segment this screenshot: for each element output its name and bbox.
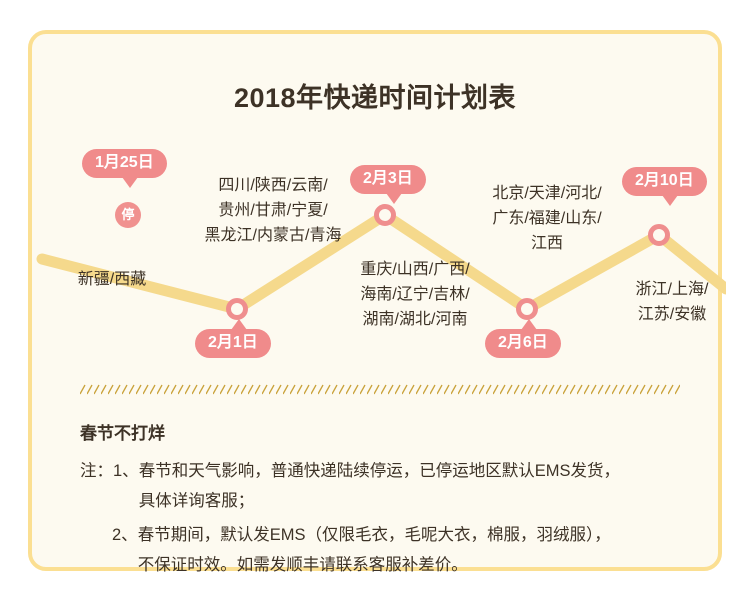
note-item-2-body: 春节期间，默认发EMS（仅限毛衣，毛呢大衣，棉服，羽绒服）， 不保证时效。如需发… bbox=[138, 520, 692, 580]
date-pill-3-label: 2月3日 bbox=[363, 170, 413, 187]
note-item-1-line-2: 具体详询客服； bbox=[139, 486, 692, 516]
region-group-5: 浙江/上海/ 江苏/安徽 bbox=[602, 277, 742, 327]
date-pill-5[interactable]: 2月10日 bbox=[622, 167, 707, 196]
note-item-2-line-1: 春节期间，默认发EMS（仅限毛衣，毛呢大衣，棉服，羽绒服）， bbox=[138, 520, 692, 550]
section-divider bbox=[80, 382, 680, 396]
page-title: 2018年快递时间计划表 bbox=[32, 76, 718, 115]
pill-tail-icon bbox=[231, 319, 247, 330]
region-group-3: 重庆/山西/广西/ 海南/辽宁/吉林/ 湖南/湖北/河南 bbox=[320, 257, 510, 332]
pill-tail-icon bbox=[122, 177, 138, 188]
date-pill-2[interactable]: 2月1日 bbox=[195, 329, 271, 358]
note-item-1-body: 春节和天气影响，普通快递陆续停运，已停运地区默认EMS发货， 具体详询客服； bbox=[139, 456, 692, 516]
delivery-timeline: 1月25日 停 新疆/西藏 四川/陕西/云南/ 贵州/甘肃/宁夏/ 黑龙江/内蒙… bbox=[32, 129, 726, 369]
divider-hatch-icon bbox=[80, 382, 680, 396]
date-pill-4-label: 2月6日 bbox=[498, 334, 548, 351]
date-pill-5-label: 2月10日 bbox=[635, 172, 694, 189]
region-group-1-line-1: 新疆/西藏 bbox=[42, 267, 182, 292]
region-group-5-line-1: 浙江/上海/ bbox=[602, 277, 742, 302]
region-group-3-line-1: 重庆/山西/广西/ bbox=[320, 257, 510, 282]
timeline-node-2[interactable] bbox=[226, 298, 248, 320]
pill-tail-icon bbox=[386, 193, 402, 204]
region-group-4-line-2: 广东/福建/山东/ bbox=[452, 206, 642, 231]
region-group-2-line-3: 黑龙江/内蒙古/青海 bbox=[158, 223, 388, 248]
date-pill-2-label: 2月1日 bbox=[208, 334, 258, 351]
infographic-card: 2018年快递时间计划表 1月25日 停 新疆/西藏 四川/陕西/云南/ 贵州/… bbox=[28, 30, 722, 571]
note-item-2: 2、 春节期间，默认发EMS（仅限毛衣，毛呢大衣，棉服，羽绒服）， 不保证时效。… bbox=[80, 520, 692, 580]
node-stop-label: 停 bbox=[121, 207, 134, 222]
region-group-3-line-2: 海南/辽宁/吉林/ bbox=[320, 282, 510, 307]
note-item-2-line-2: 不保证时效。如需发顺丰请联系客服补差价。 bbox=[138, 550, 692, 580]
region-group-4-line-1: 北京/天津/河北/ bbox=[452, 181, 642, 206]
timeline-node-stop[interactable]: 停 bbox=[115, 202, 141, 228]
region-group-2-line-2: 贵州/甘肃/宁夏/ bbox=[158, 198, 388, 223]
date-pill-4[interactable]: 2月6日 bbox=[485, 329, 561, 358]
region-group-5-line-2: 江苏/安徽 bbox=[602, 302, 742, 327]
note-item-2-marker: 2、 bbox=[112, 520, 138, 580]
timeline-node-3[interactable] bbox=[374, 204, 396, 226]
pill-tail-icon bbox=[662, 195, 678, 206]
timeline-node-4[interactable] bbox=[516, 298, 538, 320]
region-group-4: 北京/天津/河北/ 广东/福建/山东/ 江西 bbox=[452, 181, 642, 256]
note-item-1-line-1: 春节和天气影响，普通快递陆续停运，已停运地区默认EMS发货， bbox=[139, 456, 692, 486]
note-item-1-marker: 注：1、 bbox=[80, 456, 139, 516]
region-group-4-line-3: 江西 bbox=[452, 231, 642, 256]
timeline-node-5[interactable] bbox=[648, 224, 670, 246]
notes-heading: 春节不打烊 bbox=[80, 419, 692, 444]
pill-tail-icon bbox=[521, 319, 537, 330]
date-pill-1[interactable]: 1月25日 bbox=[82, 149, 167, 178]
region-group-3-line-3: 湖南/湖北/河南 bbox=[320, 307, 510, 332]
date-pill-3[interactable]: 2月3日 bbox=[350, 165, 426, 194]
notes-section: 春节不打烊 注：1、 春节和天气影响，普通快递陆续停运，已停运地区默认EMS发货… bbox=[80, 419, 692, 584]
region-group-1: 新疆/西藏 bbox=[42, 267, 182, 292]
date-pill-1-label: 1月25日 bbox=[95, 154, 154, 171]
note-item-1: 注：1、 春节和天气影响，普通快递陆续停运，已停运地区默认EMS发货， 具体详询… bbox=[80, 456, 692, 516]
